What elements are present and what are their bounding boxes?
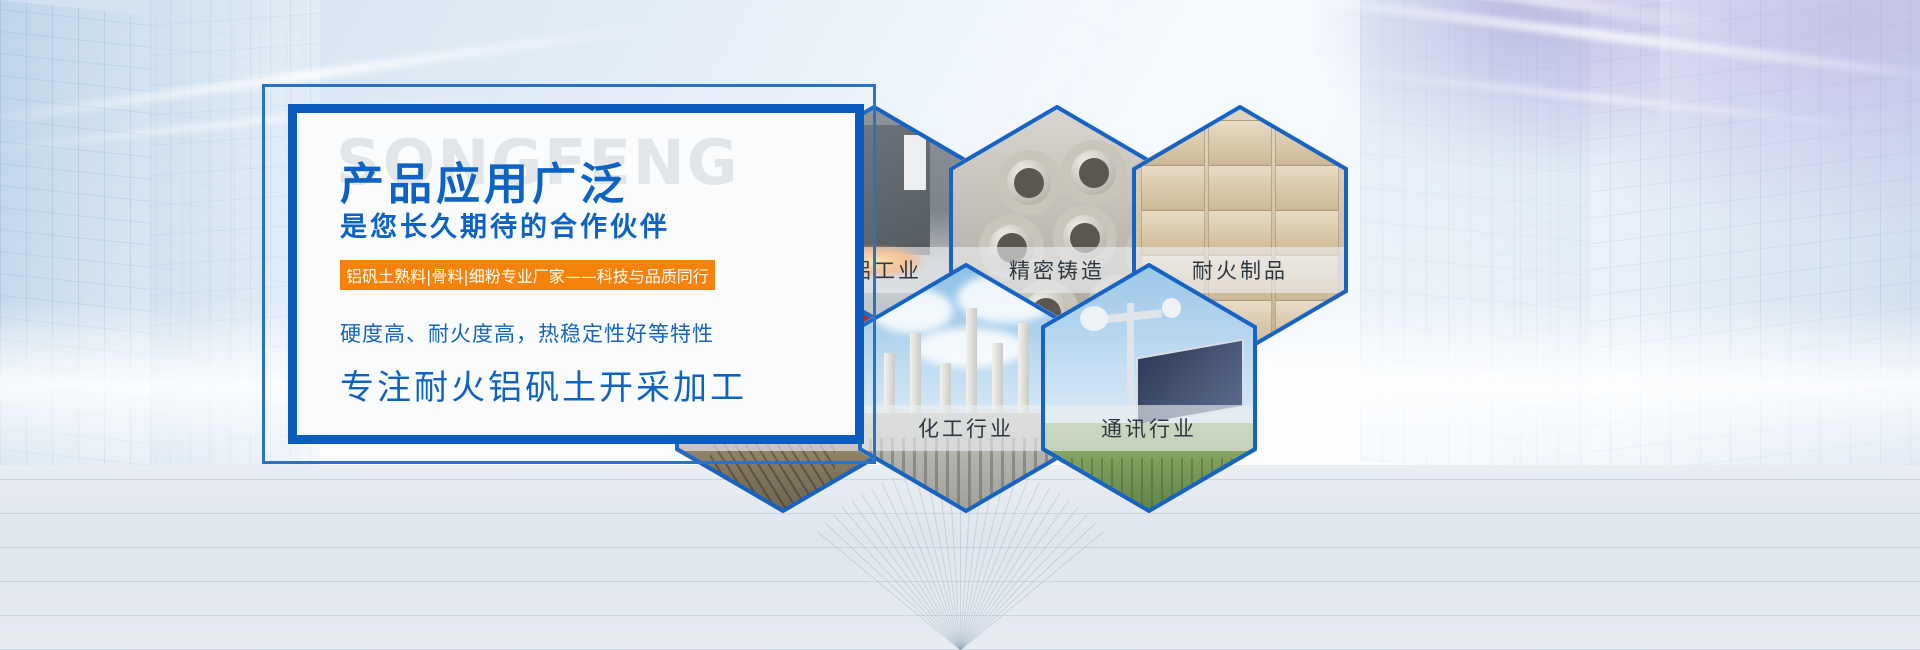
hex-chemical-label: 化工行业 (918, 413, 1014, 443)
hex-refractory-label: 耐火制品 (1192, 255, 1288, 285)
tagline-text: 专注耐火铝矾土开采加工 (340, 360, 747, 409)
page-title: 产品应用广泛 (340, 148, 628, 212)
banner-stage: 炼铝工业精密铸造耐火制品石油行业化工行业通讯行业 SONGFENG 产品应用广泛… (0, 0, 1920, 650)
subtitle: 是您长久期待的合作伙伴 (340, 205, 670, 244)
feature-text: 硬度高、耐火度高，热稳定性好等特性 (340, 318, 714, 348)
hex-telecom-caption: 通讯行业 (1041, 405, 1257, 451)
orange-ribbon-banner: 铝矾土熟料|骨料|细粉专业厂家——科技与品质同行 (340, 260, 715, 290)
hex-telecom-label: 通讯行业 (1101, 413, 1197, 443)
text-card-content: SONGFENG 产品应用广泛 是您长久期待的合作伙伴 铝矾土熟料|骨料|细粉专… (330, 120, 850, 430)
ribbon-label: 铝矾土熟料|骨料|细粉专业厂家——科技与品质同行 (346, 263, 709, 287)
hex-casting-label: 精密铸造 (1009, 255, 1105, 285)
